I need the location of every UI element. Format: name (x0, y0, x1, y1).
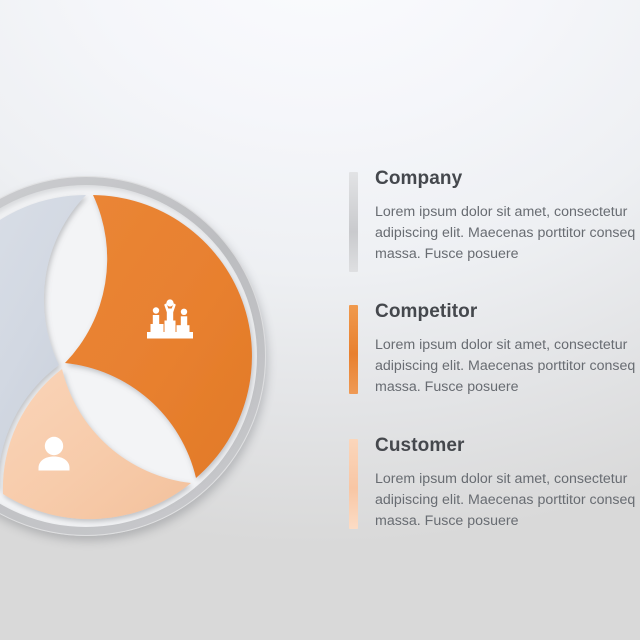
person-user-icon (26, 426, 82, 482)
info-block-company[interactable]: Company Lorem ipsum dolor sit amet, cons… (349, 168, 640, 265)
page-title: odel (0, 22, 358, 58)
heading-company: Company (375, 168, 640, 190)
slide-canvas: odel (0, 0, 640, 640)
info-block-customer[interactable]: Customer Lorem ipsum dolor sit amet, con… (349, 435, 640, 532)
info-block-competitor[interactable]: Competitor Lorem ipsum dolor sit amet, c… (349, 301, 640, 398)
heading-customer: Customer (375, 435, 640, 457)
accent-bar-company (349, 172, 358, 272)
info-block-body: Company Lorem ipsum dolor sit amet, cons… (375, 168, 640, 265)
winners-podium-icon (142, 292, 198, 348)
heading-competitor: Competitor (375, 301, 640, 323)
accent-bar-competitor (349, 305, 358, 394)
info-block-body: Customer Lorem ipsum dolor sit amet, con… (375, 435, 640, 532)
accent-bar-customer (349, 439, 358, 529)
info-block-body: Competitor Lorem ipsum dolor sit amet, c… (375, 301, 640, 398)
description-competitor: Lorem ipsum dolor sit amet, consectetur … (375, 335, 640, 398)
three-c-diagram (0, 176, 266, 536)
description-customer: Lorem ipsum dolor sit amet, consectetur … (375, 469, 640, 532)
description-company: Lorem ipsum dolor sit amet, consectetur … (375, 202, 640, 265)
